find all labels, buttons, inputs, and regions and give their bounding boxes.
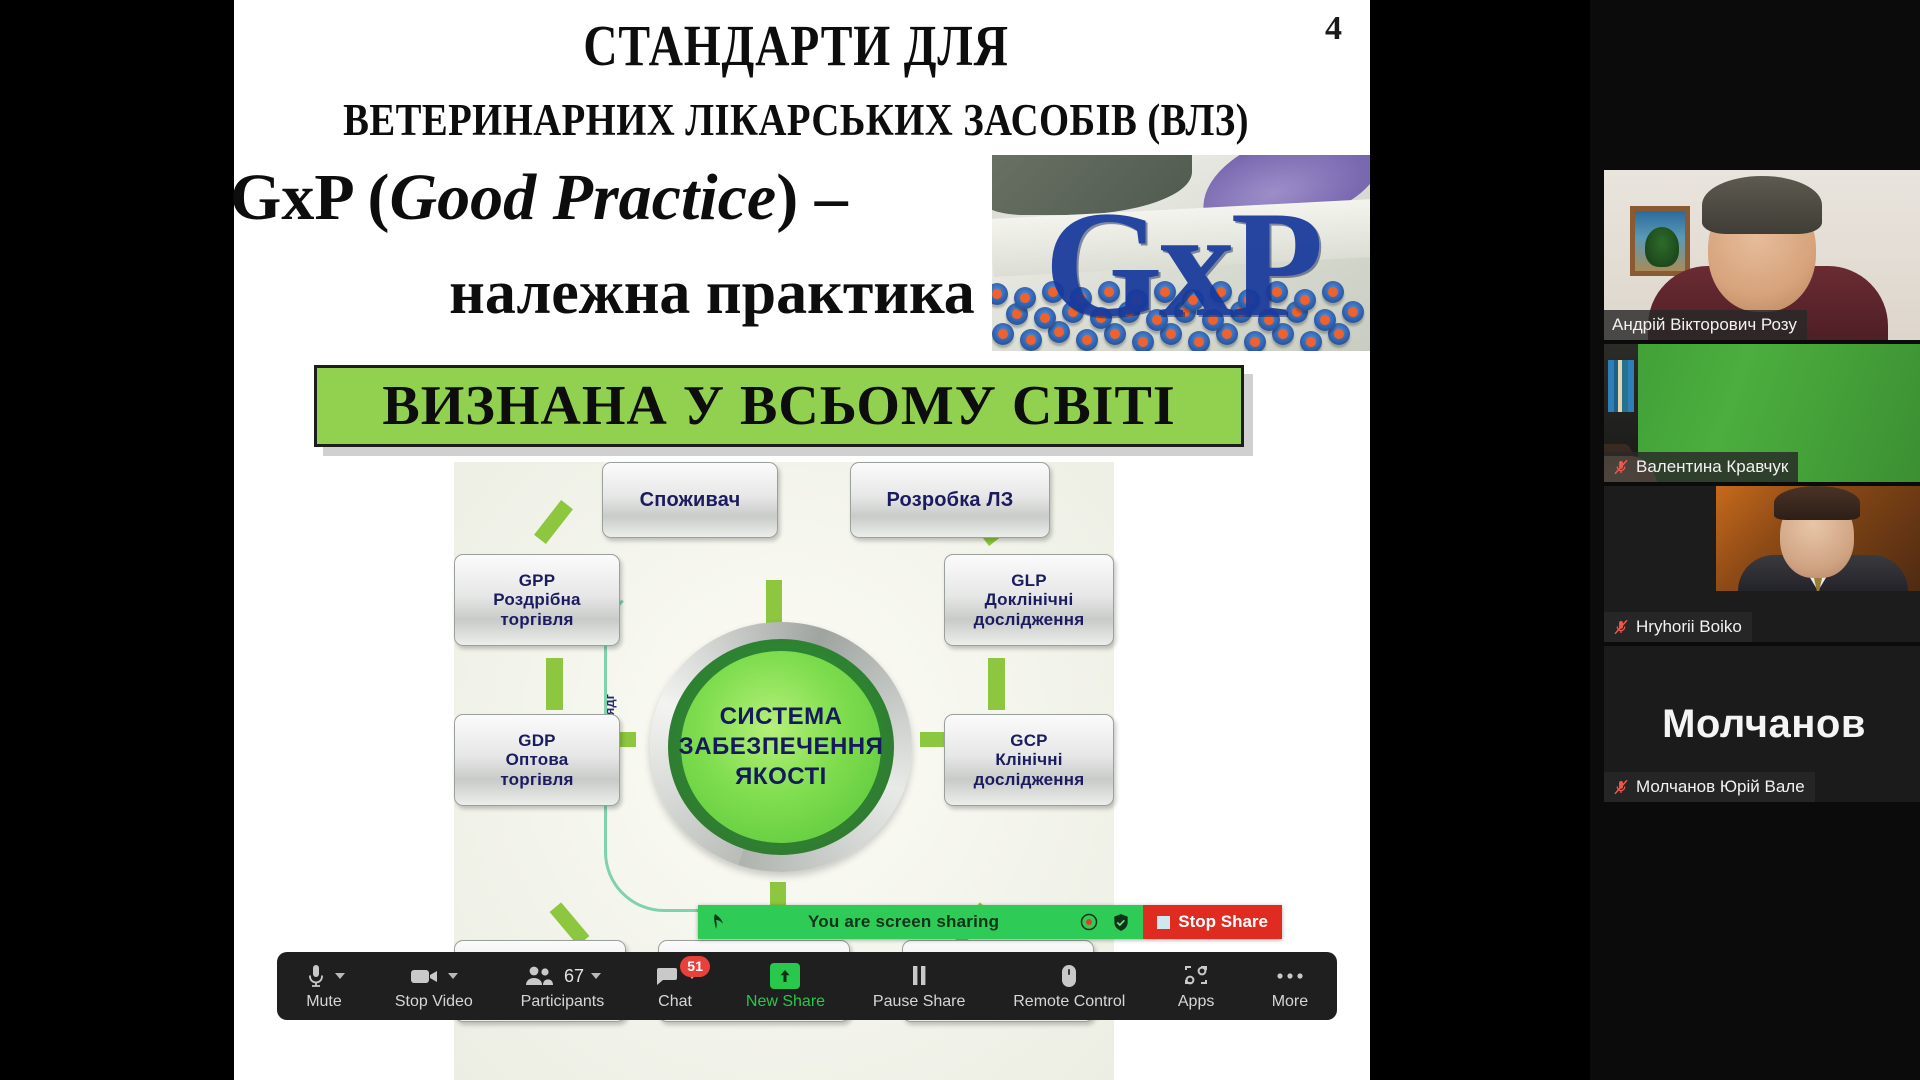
core-line-1: СИСТЕМА — [720, 702, 843, 732]
tile-1-hair — [1702, 176, 1822, 234]
core-line-3: ЯКОСТІ — [735, 762, 827, 792]
core-line-2: ЗАБЕЗПЕЧЕННЯ — [679, 732, 884, 762]
participants-chevron-down-icon[interactable] — [591, 973, 601, 979]
more-label: More — [1272, 993, 1308, 1011]
slide-page-number: 4 — [1325, 10, 1342, 48]
diagram-box-consumer: Споживач — [602, 462, 778, 538]
box-glp-code: GLP — [974, 571, 1085, 590]
diagram-box-gpp: GPP Роздрібна торгівля — [454, 554, 620, 646]
shield-icon[interactable] — [1111, 912, 1131, 933]
pause-icon — [907, 963, 931, 989]
participant-tile-4[interactable]: Молчанов Молчанов Юрій Вале — [1604, 646, 1920, 802]
gxp-label: GxP ( — [230, 161, 390, 234]
diagram-box-development: Розробка ЛЗ — [850, 462, 1050, 538]
participant-4-name-badge: Молчанов Юрій Вале — [1604, 772, 1815, 802]
box-dev-line1: Розробка ЛЗ — [887, 489, 1014, 511]
diagram-core-mid: СИСТЕМА ЗАБЕЗПЕЧЕННЯ ЯКОСТІ — [668, 639, 894, 855]
upload-arrow-icon — [770, 963, 800, 989]
pause-share-button[interactable]: Pause Share — [865, 957, 974, 1015]
box-consumer-line1: Споживач — [640, 489, 741, 511]
remote-control-button[interactable]: Remote Control — [1005, 957, 1133, 1015]
diagram-core-inner: СИСТЕМА ЗАБЕЗПЕЧЕННЯ ЯКОСТІ — [681, 651, 881, 843]
chat-bubble-icon — [654, 964, 680, 988]
tile-2-books — [1608, 360, 1634, 412]
participant-2-name-badge: Валентина Кравчук — [1604, 452, 1798, 482]
participant-count: 67 — [564, 966, 584, 987]
share-status-left: You are screen sharing — [698, 905, 1143, 939]
participant-tile-3[interactable]: Hryhorii Boiko — [1604, 486, 1920, 642]
box-gpp-line1: Роздрібна — [493, 590, 580, 609]
video-chevron-down-icon[interactable] — [448, 973, 458, 979]
box-glp-line1: Доклінічні — [974, 590, 1085, 609]
muted-microphone-icon — [1612, 458, 1630, 476]
participant-tile-1[interactable]: Андрій Вікторович Розу — [1604, 170, 1920, 340]
microphone-icon — [304, 962, 328, 990]
record-dot-icon[interactable] — [1079, 912, 1099, 932]
box-glp-line2: дослідження — [974, 610, 1085, 629]
mute-button[interactable]: Mute — [293, 957, 355, 1015]
pause-share-label: Pause Share — [873, 993, 966, 1011]
share-pointer-icon — [710, 912, 728, 932]
diagram-core-ring: СИСТЕМА ЗАБЕЗПЕЧЕННЯ ЯКОСТІ — [650, 622, 912, 872]
stop-square-icon — [1157, 916, 1170, 929]
box-gcp-line1: Клінічні — [974, 750, 1085, 769]
new-share-label: New Share — [746, 993, 825, 1011]
box-gdp-line1: Оптова — [500, 750, 573, 769]
left-letterbox — [0, 0, 222, 1080]
banner-text: ВИЗНАНА У ВСЬОМУ СВІТІ — [382, 374, 1175, 438]
participant-1-name-badge: Андрій Вікторович Розу — [1604, 310, 1807, 340]
mute-chevron-down-icon[interactable] — [335, 973, 345, 979]
box-gpp-line2: торгівля — [493, 610, 580, 629]
arrow-gdp-to-gpp — [546, 658, 563, 710]
remote-control-label: Remote Control — [1013, 993, 1125, 1011]
participants-label: Participants — [521, 993, 605, 1011]
ellipsis-icon — [1275, 969, 1305, 983]
camera-icon — [409, 964, 441, 988]
box-gdp-line2: торгівля — [500, 770, 573, 789]
participants-button[interactable]: 67 Participants — [513, 957, 613, 1015]
arrow-up-center — [766, 580, 782, 628]
participant-4-name: Молчанов Юрій Вале — [1636, 777, 1805, 797]
participant-3-name: Hryhorii Boiko — [1636, 617, 1742, 637]
good-practice-italic: Good Practice — [390, 161, 777, 234]
box-gcp-line2: дослідження — [974, 770, 1085, 789]
screen-share-status-bar: You are screen sharing Stop Share — [698, 905, 1282, 939]
arrow-glp-to-gcp — [988, 658, 1005, 710]
zoom-screen-share-window: 4 СТАНДАРТИ ДЛЯ ВЕТЕРИНАРНИХ ЛІКАРСЬКИХ … — [0, 0, 1920, 1080]
gxp-dash: ) – — [776, 161, 847, 234]
participants-icon — [524, 964, 556, 988]
box-gcp-code: GCP — [974, 731, 1085, 750]
apps-icon — [1182, 963, 1210, 989]
participant-tile-2[interactable]: Валентина Кравчук — [1604, 344, 1920, 482]
slide-title-line-2: ВЕТЕРИНАРНИХ ЛІКАРСЬКИХ ЗАСОБІВ (ВЛЗ) — [302, 94, 1289, 146]
share-status-text: You are screen sharing — [740, 912, 1067, 932]
diagram-box-gdp: GDP Оптова торгівля — [454, 714, 620, 806]
participant-3-name-badge: Hryhorii Boiko — [1604, 612, 1752, 642]
more-button[interactable]: More — [1259, 957, 1321, 1015]
muted-microphone-icon — [1612, 618, 1630, 636]
mute-label: Mute — [306, 993, 342, 1011]
stop-video-label: Stop Video — [395, 993, 473, 1011]
chat-label: Chat — [658, 993, 692, 1011]
box-gpp-code: GPP — [493, 571, 580, 590]
stop-share-button[interactable]: Stop Share — [1143, 905, 1282, 939]
tile-1-wall-painting — [1630, 206, 1690, 276]
box-gdp-code: GDP — [500, 731, 573, 750]
recognized-worldwide-banner: ВИЗНАНА У ВСЬОМУ СВІТІ — [314, 365, 1244, 447]
arrow-upleft — [534, 500, 573, 544]
new-share-button[interactable]: New Share — [738, 957, 833, 1015]
muted-microphone-icon — [1612, 778, 1630, 796]
diagram-box-glp: GLP Доклінічні дослідження — [944, 554, 1114, 646]
stop-share-label: Stop Share — [1178, 912, 1268, 932]
diagram-box-gcp: GCP Клінічні дослідження — [944, 714, 1114, 806]
tile-3-portrait — [1716, 486, 1920, 591]
apps-label: Apps — [1178, 993, 1214, 1011]
slide-title-line-1: СТАНДАРТИ ДЛЯ — [325, 12, 1266, 79]
gxp-photo: GxP — [992, 155, 1370, 351]
participant-1-name: Андрій Вікторович Розу — [1612, 315, 1797, 335]
zoom-meeting-toolbar: Mute Stop Video 67 — [277, 952, 1337, 1020]
chat-button[interactable]: 51 Chat — [644, 957, 706, 1015]
chat-unread-badge: 51 — [680, 956, 710, 977]
gxp-photo-letters: GxP — [992, 177, 1370, 351]
participant-filmstrip: Андрій Вікторович Розу Валентина Кравчук — [1590, 0, 1920, 1080]
apps-button[interactable]: Apps — [1165, 957, 1227, 1015]
participant-2-name: Валентина Кравчук — [1636, 457, 1788, 477]
mouse-icon — [1058, 962, 1080, 990]
tile-3-hair — [1774, 486, 1860, 520]
stop-video-button[interactable]: Stop Video — [387, 957, 481, 1015]
